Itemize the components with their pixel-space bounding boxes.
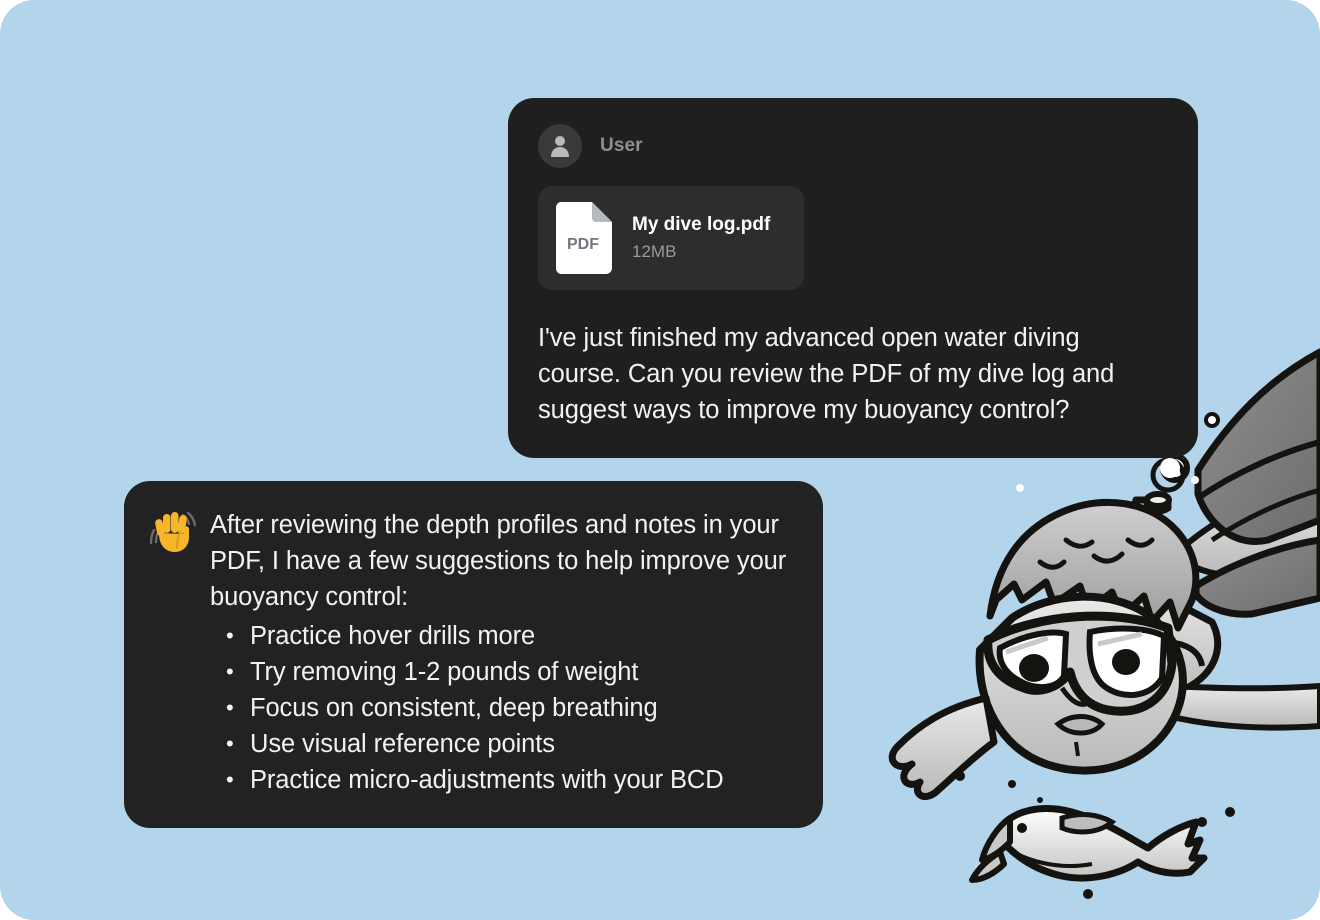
person-icon — [538, 124, 582, 168]
list-item: Practice hover drills more — [210, 618, 797, 654]
assistant-message-bubble: After reviewing the depth profiles and n… — [124, 481, 823, 828]
air-bubbles — [955, 396, 1235, 899]
pdf-attachment-card[interactable]: PDF My dive log.pdf 12MB — [538, 186, 804, 290]
list-item: Focus on consistent, deep breathing — [210, 690, 797, 726]
svg-text:PDF: PDF — [567, 236, 599, 253]
list-item: Try removing 1-2 pounds of weight — [210, 654, 797, 690]
user-message-text: I've just finished my advanced open wate… — [538, 320, 1168, 428]
attachment-meta: My dive log.pdf 12MB — [632, 214, 770, 262]
user-name-label: User — [600, 135, 643, 157]
suggestion-list: Practice hover drills more Try removing … — [210, 618, 797, 798]
user-message-bubble: User PDF My dive log.pdf 12MB I've just … — [508, 98, 1198, 458]
user-header: User — [538, 124, 1168, 168]
fish — [972, 809, 1204, 880]
attachment-file-name: My dive log.pdf — [632, 214, 770, 236]
waving-hand-emoji — [150, 509, 196, 553]
assistant-intro-text: After reviewing the depth profiles and n… — [210, 507, 797, 615]
attachment-file-size: 12MB — [632, 242, 770, 262]
list-item: Practice micro-adjustments with your BCD — [210, 762, 797, 798]
list-item: Use visual reference points — [210, 726, 797, 762]
page-canvas: User PDF My dive log.pdf 12MB I've just … — [0, 0, 1320, 920]
pdf-file-icon: PDF — [556, 202, 612, 274]
